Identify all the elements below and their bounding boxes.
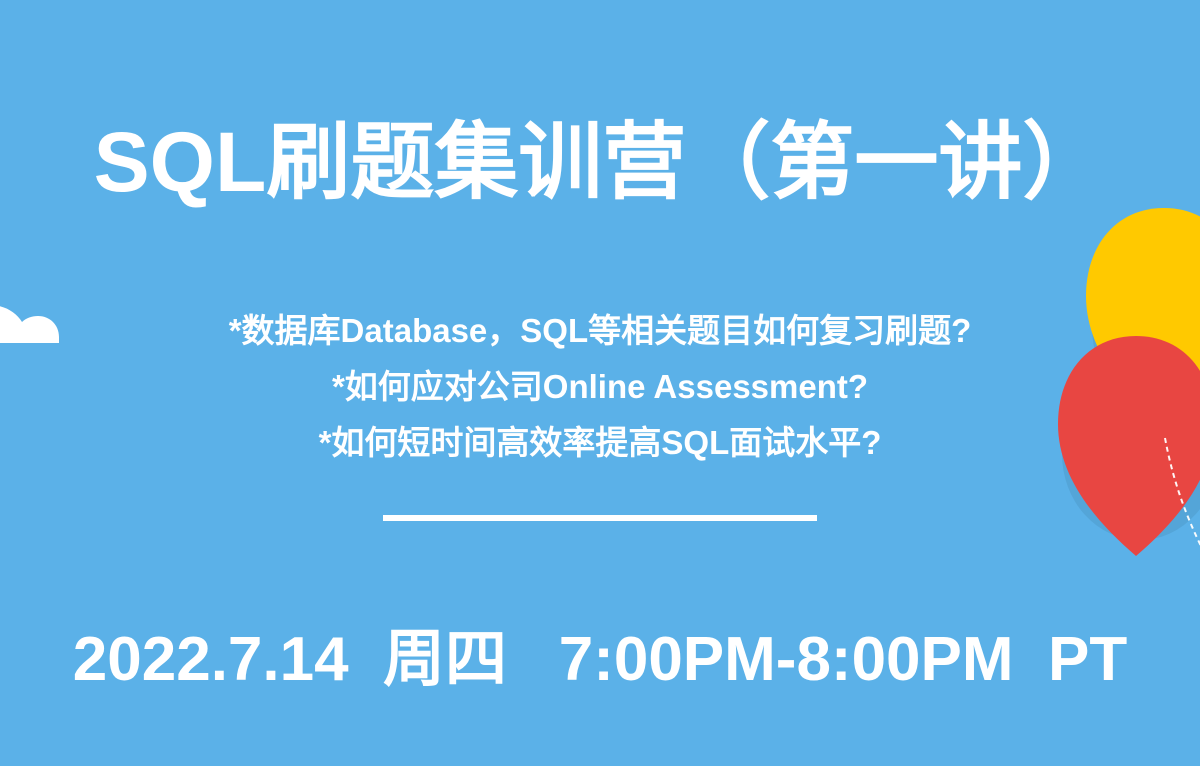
bullet-list: *数据库Database，SQL等相关题目如何复习刷题? *如何应对公司Onli…	[0, 303, 1200, 471]
poster-canvas: SQL刷题集训营（第一讲） *数据库Database，SQL等相关题目如何复习刷…	[0, 0, 1200, 766]
bullet-item-2: *如何应对公司Online Assessment?	[0, 359, 1200, 415]
divider	[383, 515, 817, 521]
bullet-item-3: *如何短时间高效率提高SQL面试水平?	[0, 415, 1200, 471]
event-datetime: 2022.7.14 周四 7:00PM-8:00PM PT	[0, 624, 1200, 695]
bullet-item-1: *数据库Database，SQL等相关题目如何复习刷题?	[0, 303, 1200, 359]
page-title: SQL刷题集训营（第一讲）	[0, 114, 1200, 211]
